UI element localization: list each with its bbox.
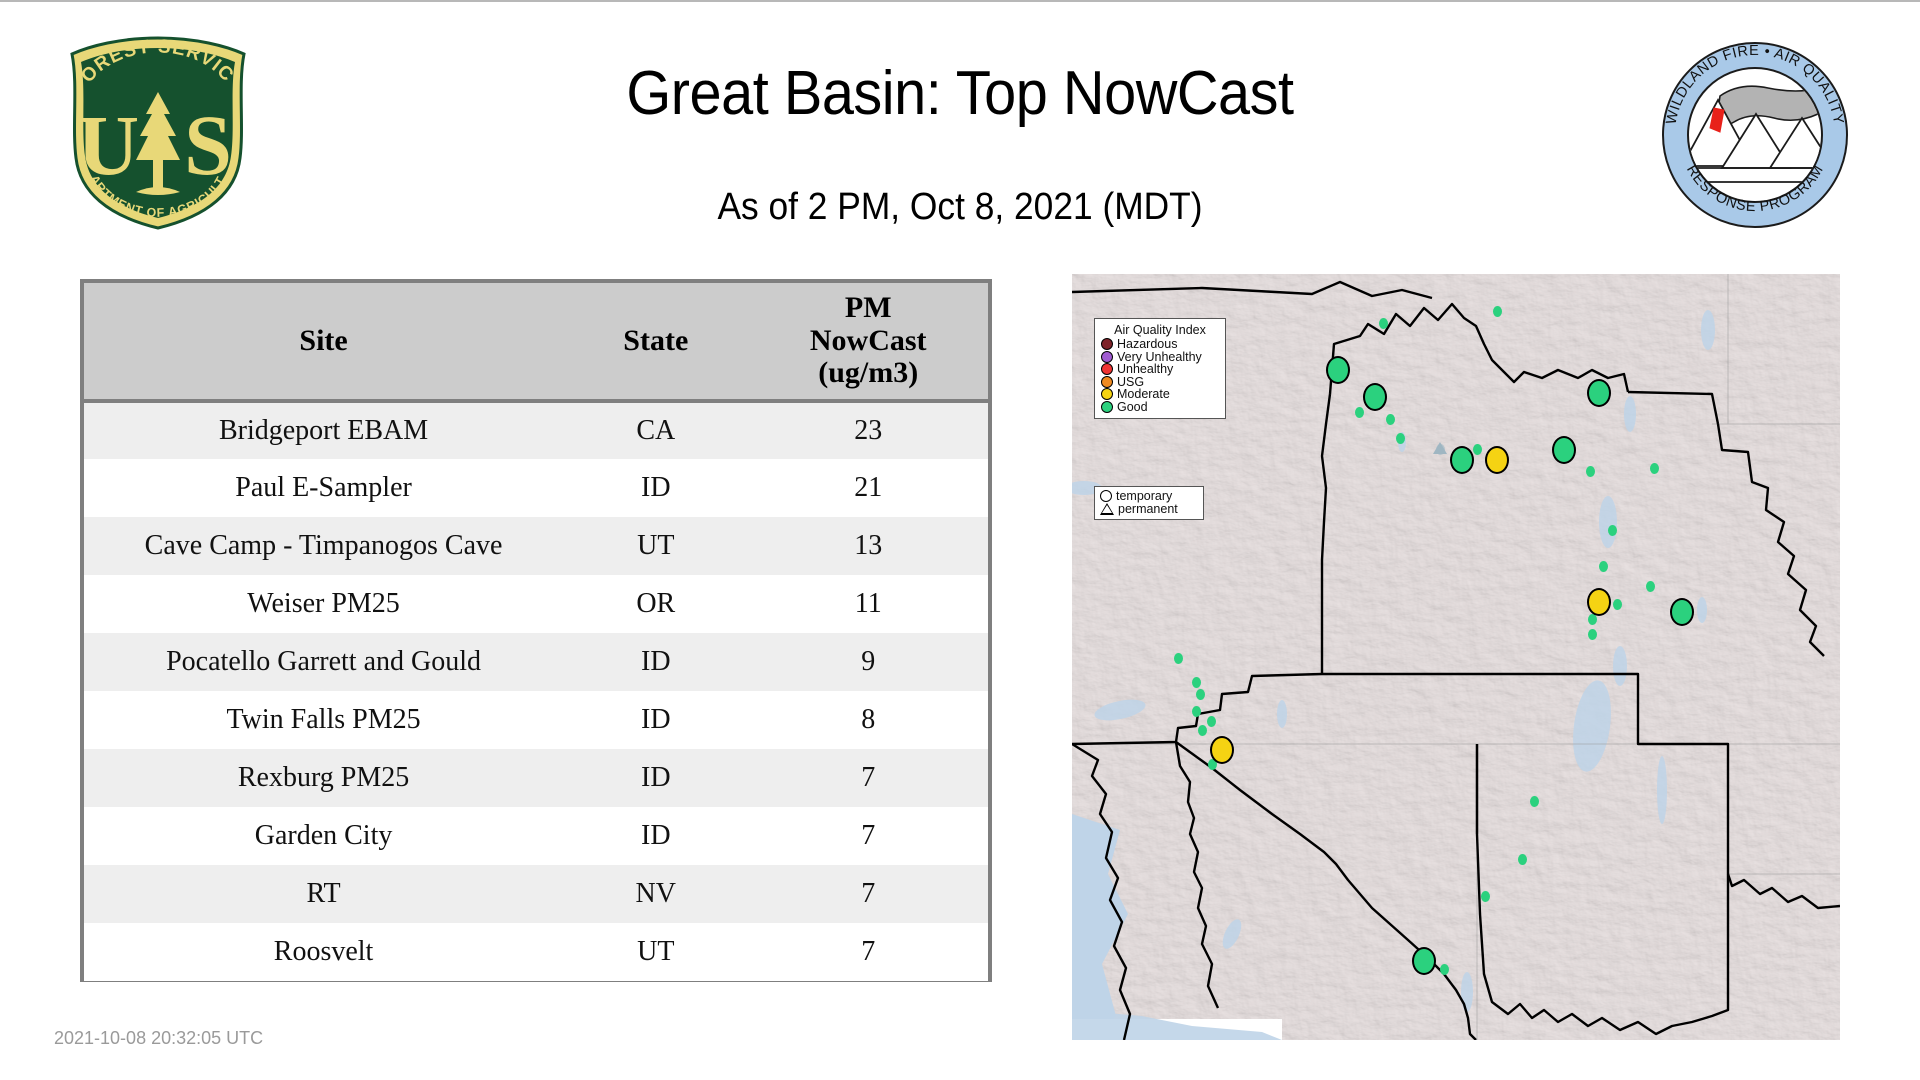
cell-pm: 13 [748,517,988,575]
aqi-swatch-icon [1101,351,1113,363]
cell-pm: 7 [748,749,988,807]
table-row: Paul E-SamplerID21 [84,459,988,517]
aqi-swatch-icon [1101,388,1113,400]
table-row: Weiser PM25OR11 [84,575,988,633]
map-legend-site-type: temporary permanent [1094,486,1204,520]
legend-title: Air Quality Index [1101,323,1219,337]
monitor-marker-permanent[interactable] [1433,442,1447,454]
monitor-dot-small[interactable] [1613,599,1622,610]
aqi-swatch-icon [1101,363,1113,375]
monitor-marker-moderate[interactable] [1210,736,1234,764]
cell-site: Cave Camp - Timpanogos Cave [84,517,563,575]
aqi-swatch-icon [1101,401,1113,413]
cell-state: NV [563,865,748,923]
cell-site: Bridgeport EBAM [84,401,563,459]
cell-state: ID [563,807,748,865]
monitor-marker-good[interactable] [1450,446,1474,474]
monitor-dot-small[interactable] [1473,444,1482,455]
monitor-dot-small[interactable] [1386,414,1395,425]
cell-pm: 7 [748,807,988,865]
cell-site: RT [84,865,563,923]
great-basin-monitor-map[interactable]: Air Quality Index HazardousVery Unhealth… [1072,274,1840,1040]
legend-label-permanent: permanent [1118,503,1178,516]
cell-state: ID [563,749,748,807]
monitor-marker-good[interactable] [1412,947,1436,975]
legend-label: Good [1117,401,1148,414]
table-row: Twin Falls PM25ID8 [84,691,988,749]
cell-pm: 7 [748,923,988,981]
map-legend-air-quality-index: Air Quality Index HazardousVery Unhealth… [1094,318,1226,419]
monitor-dot-small[interactable] [1196,689,1205,700]
wildland-fire-air-quality-logo: WILDLAND FIRE • AIR QUALITY RESPONSE PRO… [1660,40,1850,230]
cell-site: Roosvelt [84,923,563,981]
monitor-dot-small[interactable] [1586,466,1595,477]
cell-pm: 11 [748,575,988,633]
monitor-dot-small[interactable] [1192,706,1201,717]
cell-state: UT [563,923,748,981]
monitor-dot-small[interactable] [1355,407,1364,418]
cell-pm: 9 [748,633,988,691]
pm-header-line1: PM [845,291,892,324]
cell-pm: 7 [748,865,988,923]
monitor-dot-small[interactable] [1192,677,1201,688]
monitor-marker-moderate[interactable] [1587,588,1611,616]
legend-row-good: Good [1101,401,1219,414]
monitor-dot-small[interactable] [1396,433,1405,444]
cell-state: ID [563,691,748,749]
cell-state: OR [563,575,748,633]
column-header-site: Site [84,283,563,401]
cell-site: Weiser PM25 [84,575,563,633]
cell-state: ID [563,459,748,517]
monitor-dot-small[interactable] [1530,796,1539,807]
monitor-dot-small[interactable] [1608,525,1617,536]
cell-site: Garden City [84,807,563,865]
aqi-swatch-icon [1101,338,1113,350]
pm-header-line2: NowCast [810,324,927,357]
monitor-dot-small[interactable] [1174,653,1183,664]
us-forest-service-logo: FOREST SERVICE U S DEPARTMENT OF AGRICUL… [58,32,258,232]
legend-row-moderate: Moderate [1101,388,1219,401]
table-header-row: Site State PM NowCast (ug/m3) [84,283,988,401]
table-row: Cave Camp - Timpanogos CaveUT13 [84,517,988,575]
column-header-pm-nowcast: PM NowCast (ug/m3) [748,283,988,401]
monitor-marker-moderate[interactable] [1485,446,1509,474]
legend-row-temporary: temporary [1100,490,1198,503]
cell-site: Twin Falls PM25 [84,691,563,749]
svg-text:S: S [184,97,232,193]
legend-label: Moderate [1117,388,1170,401]
svg-text:U: U [77,97,139,193]
monitor-marker-good[interactable] [1670,598,1694,626]
monitor-dot-small[interactable] [1379,318,1388,329]
page-title: Great Basin: Top NowCast [346,58,1574,129]
pm-header-line3: (ug/m3) [818,356,918,389]
table-row: Bridgeport EBAMCA23 [84,401,988,459]
table-row: Garden CityID7 [84,807,988,865]
cell-state: UT [563,517,748,575]
table-row: RTNV7 [84,865,988,923]
top-nowcast-table: Site State PM NowCast (ug/m3) Bridgeport… [80,279,992,982]
monitor-marker-good[interactable] [1363,383,1387,411]
generated-timestamp: 2021-10-08 20:32:05 UTC [54,1028,263,1049]
legend-row-unhealthy: Unhealthy [1101,363,1219,376]
dashboard-page: FOREST SERVICE U S DEPARTMENT OF AGRICUL… [0,0,1920,1080]
aqi-swatch-icon [1101,376,1113,388]
monitor-dot-small[interactable] [1599,561,1608,572]
monitor-dot-small[interactable] [1493,306,1502,317]
monitor-dot-small[interactable] [1518,854,1527,865]
table-row: Pocatello Garrett and GouldID9 [84,633,988,691]
legend-row-permanent: permanent [1100,503,1198,516]
temporary-circle-icon [1100,490,1112,502]
cell-site: Paul E-Sampler [84,459,563,517]
monitor-marker-good[interactable] [1552,436,1576,464]
legend-label: Hazardous [1117,338,1177,351]
column-header-state: State [563,283,748,401]
monitor-dot-small[interactable] [1481,891,1490,902]
legend-row-hazardous: Hazardous [1101,338,1219,351]
monitor-marker-good[interactable] [1587,379,1611,407]
cell-state: ID [563,633,748,691]
monitor-dot-small[interactable] [1588,629,1597,640]
cell-pm: 23 [748,401,988,459]
monitor-dot-small[interactable] [1207,716,1216,727]
table-row: RoosveltUT7 [84,923,988,981]
monitor-marker-good[interactable] [1326,356,1350,384]
permanent-triangle-icon [1100,503,1114,515]
monitor-dot-small[interactable] [1646,581,1655,592]
monitor-dot-small[interactable] [1650,463,1659,474]
table-row: Rexburg PM25ID7 [84,749,988,807]
monitor-dot-small[interactable] [1198,725,1207,736]
cell-state: CA [563,401,748,459]
legend-label-temporary: temporary [1116,490,1172,503]
page-subtitle: As of 2 PM, Oct 8, 2021 (MDT) [346,186,1574,229]
monitor-dot-small[interactable] [1440,964,1449,975]
cell-site: Rexburg PM25 [84,749,563,807]
cell-site: Pocatello Garrett and Gould [84,633,563,691]
cell-pm: 8 [748,691,988,749]
cell-pm: 21 [748,459,988,517]
legend-label: Unhealthy [1117,363,1173,376]
